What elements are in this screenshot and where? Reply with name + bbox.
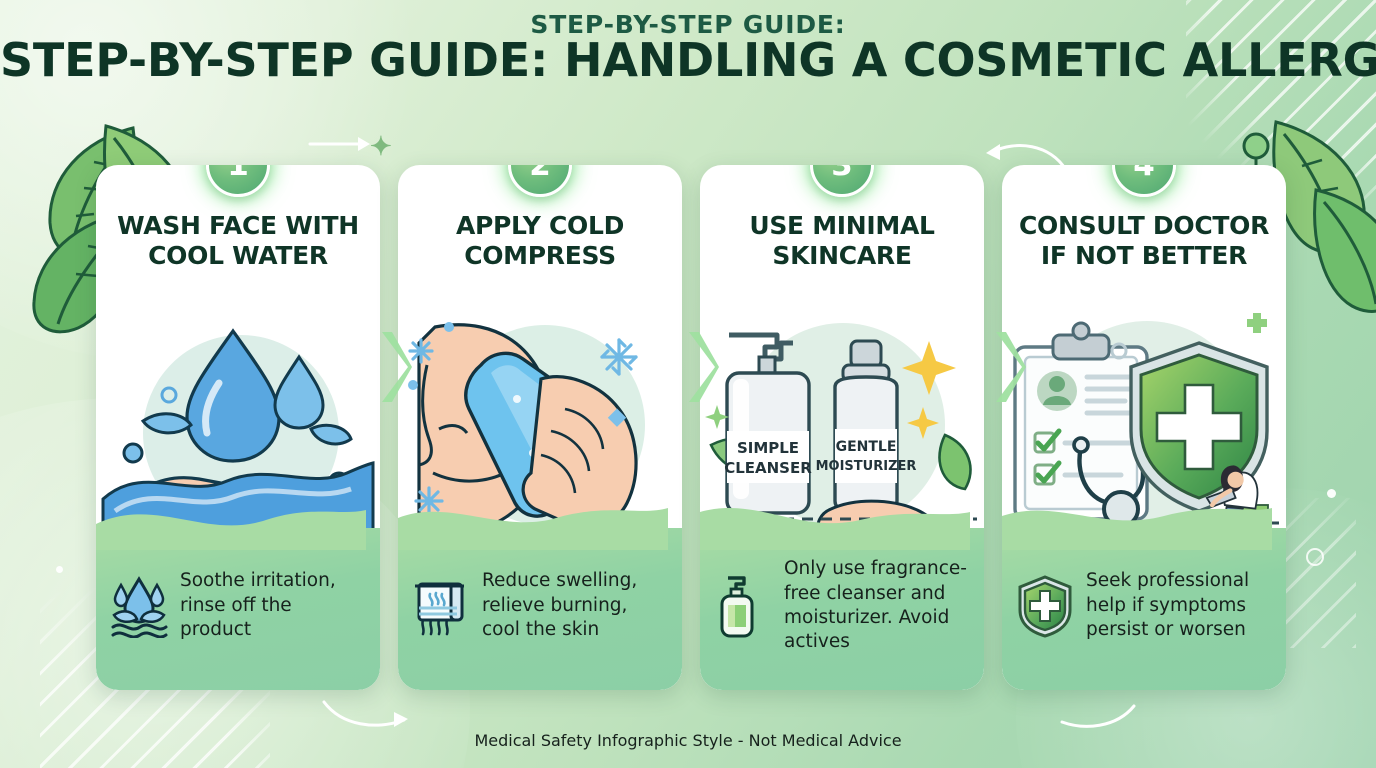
step-footer-1: Soothe irritation, rinse off the product	[96, 528, 380, 690]
pump-bottle-icon	[714, 574, 772, 638]
step-badge-2: 2	[508, 165, 572, 197]
title-block: STEP-BY-STEP GUIDE: STEP-BY-STEP GUIDE: …	[0, 10, 1376, 39]
step-title-3: USE MINIMAL SKINCARE	[716, 211, 968, 270]
step-illustration-4	[1002, 313, 1286, 535]
step-caption-1: Soothe irritation, rinse off the product	[180, 569, 364, 642]
step-card-1[interactable]: 1 WASH FACE WITH COOL WATER	[96, 165, 380, 690]
bottle-label-right: GENTLE	[836, 439, 897, 455]
step-footer-2: Reduce swelling, relieve burning, cool t…	[398, 528, 682, 690]
chevron-connector	[992, 330, 1026, 404]
step-footer-3: Only use fragrance-free cleanser and moi…	[700, 528, 984, 690]
svg-text:MOISTURIZER: MOISTURIZER	[816, 459, 917, 474]
flow-arrow-right	[308, 130, 378, 158]
step-badge-1: 1	[206, 165, 270, 197]
svg-text:CLEANSER: CLEANSER	[724, 459, 812, 477]
folded-towel-icon	[412, 574, 470, 638]
dot-decoration	[1327, 489, 1336, 498]
step-card-3[interactable]: 3 USE MINIMAL SKINCARE SIMPLE CLEANSER	[700, 165, 984, 690]
disclaimer-text: Medical Safety Infographic Style - Not M…	[0, 731, 1376, 750]
leaf-decoration	[1306, 176, 1376, 316]
step-title-1: WASH FACE WITH COOL WATER	[112, 211, 364, 270]
step-illustration-3: SIMPLE CLEANSER GENTLE MOISTURIZER	[700, 313, 984, 535]
medical-shield-icon	[1016, 574, 1074, 638]
step-card-4[interactable]: 4 CONSULT DOCTOR IF NOT BETTER	[1002, 165, 1286, 690]
step-card-2[interactable]: 2 APPLY COLD COMPRESS	[398, 165, 682, 690]
flow-arrow-curve-bottom	[1058, 700, 1138, 734]
chevron-connector	[378, 330, 412, 404]
infographic-canvas: ✦ ✦ STEP-BY-STEP GUIDE: STEP-BY-STEP GUI…	[0, 0, 1376, 768]
step-caption-4: Seek professional help if symptoms persi…	[1086, 569, 1270, 642]
step-badge-3: 3	[810, 165, 874, 197]
step-badge-4: 4	[1112, 165, 1176, 197]
dot-decoration	[56, 566, 63, 573]
step-caption-3: Only use fragrance-free cleanser and moi…	[784, 557, 968, 655]
water-drop-icon	[110, 574, 168, 638]
step-title-2: APPLY COLD COMPRESS	[414, 211, 666, 270]
ring-decoration	[1306, 548, 1324, 566]
step-caption-2: Reduce swelling, relieve burning, cool t…	[482, 569, 666, 642]
chevron-connector	[685, 330, 719, 404]
dot-decoration	[114, 133, 123, 142]
step-title-4: CONSULT DOCTOR IF NOT BETTER	[1018, 211, 1270, 270]
step-illustration-1	[96, 313, 380, 535]
flow-arrow-curve-bottom	[320, 696, 410, 734]
page-title: STEP-BY-STEP GUIDE: HANDLING A COSMETIC …	[0, 33, 1376, 87]
sparkle-icon: ✦	[370, 133, 392, 159]
step-illustration-2	[398, 313, 682, 535]
steps-row: 1 WASH FACE WITH COOL WATER	[96, 165, 1286, 690]
bottle-label-left: SIMPLE	[737, 439, 799, 457]
step-footer-4: Seek professional help if symptoms persi…	[1002, 528, 1286, 690]
